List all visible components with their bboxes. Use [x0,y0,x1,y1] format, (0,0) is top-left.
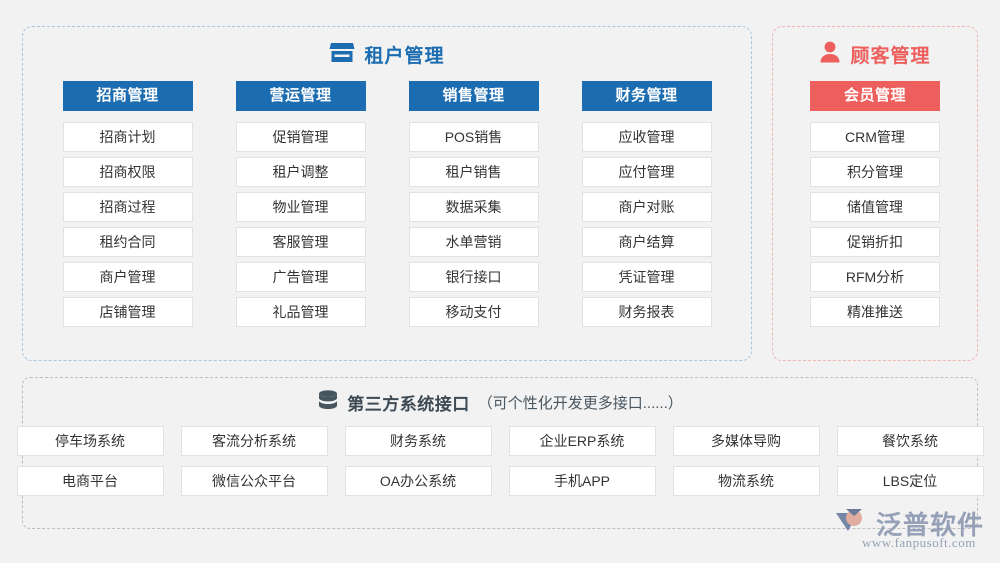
list-item[interactable]: 商户管理 [63,262,193,292]
third-party-interface-panel: 第三方系统接口 （可个性化开发更多接口......） 停车场系统 客流分析系统 … [22,377,978,529]
list-item[interactable]: 租户销售 [409,157,539,187]
list-item[interactable]: 多媒体导购 [673,426,820,456]
list-item[interactable]: 数据采集 [409,192,539,222]
customer-panel-header: 顾客管理 [773,27,977,81]
list-item[interactable]: POS销售 [409,122,539,152]
shop-awning-icon [329,40,355,69]
list-item[interactable]: 凭证管理 [582,262,712,292]
person-icon [819,40,841,69]
list-item[interactable]: 促销管理 [236,122,366,152]
column-caiwu: 财务管理 应收管理 应付管理 商户对账 商户结算 凭证管理 财务报表 [582,81,712,332]
list-item[interactable]: 商户对账 [582,192,712,222]
list-item[interactable]: 停车场系统 [17,426,164,456]
list-item[interactable]: 精准推送 [810,297,940,327]
list-item[interactable]: 客服管理 [236,227,366,257]
list-item[interactable]: 财务系统 [345,426,492,456]
list-item[interactable]: 招商权限 [63,157,193,187]
list-item[interactable]: OA办公系统 [345,466,492,496]
list-item[interactable]: 招商过程 [63,192,193,222]
database-icon [317,389,339,416]
column-header-yingyun[interactable]: 营运管理 [236,81,366,111]
column-header-xiaoshou[interactable]: 销售管理 [409,81,539,111]
third-party-header: 第三方系统接口 （可个性化开发更多接口......） [23,378,977,426]
list-item[interactable]: 企业ERP系统 [509,426,656,456]
column-zhaoshang: 招商管理 招商计划 招商权限 招商过程 租约合同 商户管理 店铺管理 [63,81,193,332]
list-item[interactable]: 广告管理 [236,262,366,292]
column-huiyuan: 会员管理 CRM管理 积分管理 储值管理 促销折扣 RFM分析 精准推送 [810,81,940,332]
list-item[interactable]: 物业管理 [236,192,366,222]
list-item[interactable]: 招商计划 [63,122,193,152]
list-item[interactable]: LBS定位 [837,466,984,496]
list-item[interactable]: 微信公众平台 [181,466,328,496]
list-item[interactable]: 储值管理 [810,192,940,222]
list-item[interactable]: 店铺管理 [63,297,193,327]
list-item[interactable]: 礼品管理 [236,297,366,327]
list-item[interactable]: CRM管理 [810,122,940,152]
list-item[interactable]: 促销折扣 [810,227,940,257]
list-item[interactable]: RFM分析 [810,262,940,292]
list-item[interactable]: 餐饮系统 [837,426,984,456]
list-item[interactable]: 客流分析系统 [181,426,328,456]
customer-columns: 会员管理 CRM管理 积分管理 储值管理 促销折扣 RFM分析 精准推送 [773,81,977,332]
tenant-panel-header: 租户管理 [23,27,751,81]
column-header-huiyuan[interactable]: 会员管理 [810,81,940,111]
column-header-caiwu[interactable]: 财务管理 [582,81,712,111]
list-item[interactable]: 财务报表 [582,297,712,327]
list-item[interactable]: 积分管理 [810,157,940,187]
column-header-zhaoshang[interactable]: 招商管理 [63,81,193,111]
third-party-grid: 停车场系统 客流分析系统 财务系统 企业ERP系统 多媒体导购 餐饮系统 电商平… [23,426,977,496]
list-item[interactable]: 应付管理 [582,157,712,187]
list-item[interactable]: 租约合同 [63,227,193,257]
list-item[interactable]: 物流系统 [673,466,820,496]
column-xiaoshou: 销售管理 POS销售 租户销售 数据采集 水单营销 银行接口 移动支付 [409,81,539,332]
column-yingyun: 营运管理 促销管理 租户调整 物业管理 客服管理 广告管理 礼品管理 [236,81,366,332]
tenant-columns: 招商管理 招商计划 招商权限 招商过程 租约合同 商户管理 店铺管理 营运管理 … [23,81,751,332]
list-item[interactable]: 银行接口 [409,262,539,292]
list-item[interactable]: 应收管理 [582,122,712,152]
tenant-panel-title: 租户管理 [364,41,444,68]
third-party-title: 第三方系统接口 [347,390,470,415]
customer-panel-title: 顾客管理 [850,41,930,68]
list-item[interactable]: 商户结算 [582,227,712,257]
customer-management-panel: 顾客管理 会员管理 CRM管理 积分管理 储值管理 促销折扣 RFM分析 精准推… [772,26,978,361]
watermark-url: www.fanpusoft.com [862,535,976,551]
list-item[interactable]: 电商平台 [17,466,164,496]
list-item[interactable]: 移动支付 [409,297,539,327]
list-item[interactable]: 水单营销 [409,227,539,257]
list-item[interactable]: 租户调整 [236,157,366,187]
list-item[interactable]: 手机APP [509,466,656,496]
third-party-subtitle: （可个性化开发更多接口......） [478,392,683,413]
tenant-management-panel: 租户管理 招商管理 招商计划 招商权限 招商过程 租约合同 商户管理 店铺管理 … [22,26,752,361]
